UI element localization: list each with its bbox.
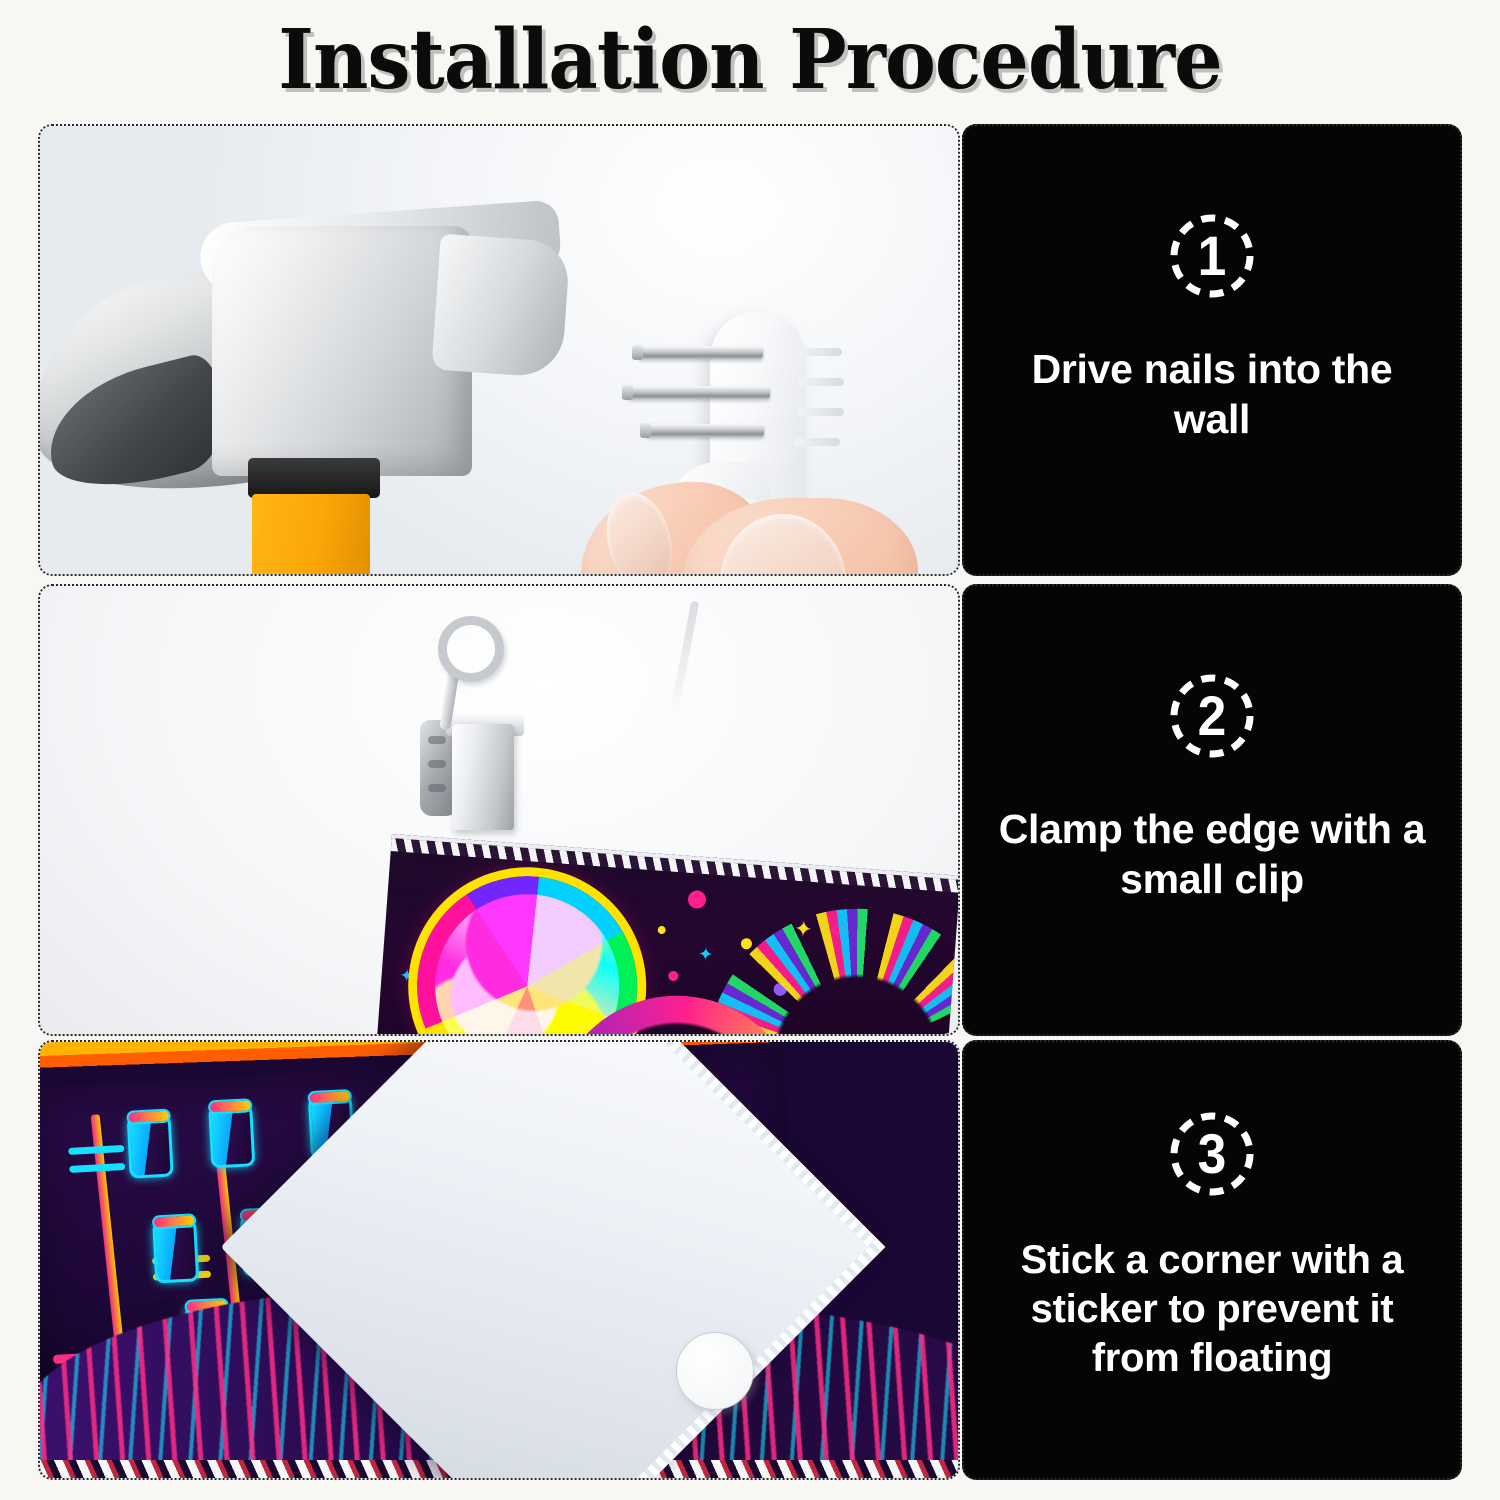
step-label: Clamp the edge with a small clip [964,804,1460,904]
star-dot [687,890,706,909]
mixer-knob [152,1219,199,1283]
step-number: 3 [1172,1110,1253,1198]
clip-jaw [452,724,514,830]
star-dot [657,926,666,935]
star-dot [668,971,679,982]
step-row-1: 1 Drive nails into the wall [38,124,1462,576]
wall-hook-rib [798,378,844,386]
hammer-rubber-band [248,458,380,498]
step-panel-3: 3 Stick a corner with a sticker to preve… [962,1040,1462,1480]
nail-head [640,423,651,438]
step-number: 1 [1172,212,1253,300]
clip-on-tapestry-photo: ✦ ✦ ✦ ✦ [38,584,960,1036]
step-number: 2 [1172,672,1253,760]
installation-procedure-infographic: Installation Procedure [0,0,1500,1500]
star-dot [741,938,753,950]
step-label: Stick a corner with a sticker to prevent… [964,1236,1460,1383]
sparkle-icon: ✦ [399,967,414,985]
nail-head [622,385,633,400]
hammer-handle [252,494,370,576]
step-badge-1: 1 [1168,212,1256,300]
neon-planet [409,869,645,1036]
nail [646,424,764,437]
nail-head [632,345,643,360]
sticker-on-tapestry-corner-photo [38,1040,960,1480]
mixer-knob [127,1115,174,1179]
neon-mixer-tapestry [40,1042,958,1478]
step-panel-1: 1 Drive nails into the wall [962,124,1462,576]
step-row-2: ✦ ✦ ✦ ✦ 2 Cla [38,584,1462,1036]
page-title: Installation Procedure [53,14,1448,106]
neon-line [69,1163,125,1173]
step-panel-2: 2 Clamp the edge with a small clip [962,584,1462,1036]
neon-line [68,1145,124,1155]
wall-hook-rib [798,408,844,416]
mixer-knob [208,1104,255,1168]
step-badge-2: 2 [1168,672,1256,760]
hammer-and-wall-hook-photo [38,124,960,576]
sparkle-icon: ✦ [697,945,713,964]
nail [628,386,770,399]
hammer-neck [431,234,570,379]
step-row-3: 3 Stick a corner with a sticker to preve… [38,1040,1462,1480]
clip-hanging-ring [438,616,504,682]
wall-hook-rib [794,438,840,446]
step-badge-3: 3 [1168,1110,1256,1198]
nail [638,346,763,359]
wall-hook-rib [796,348,842,356]
round-adhesive-sticker[interactable] [676,1332,754,1410]
step-label: Drive nails into the wall [964,344,1460,444]
